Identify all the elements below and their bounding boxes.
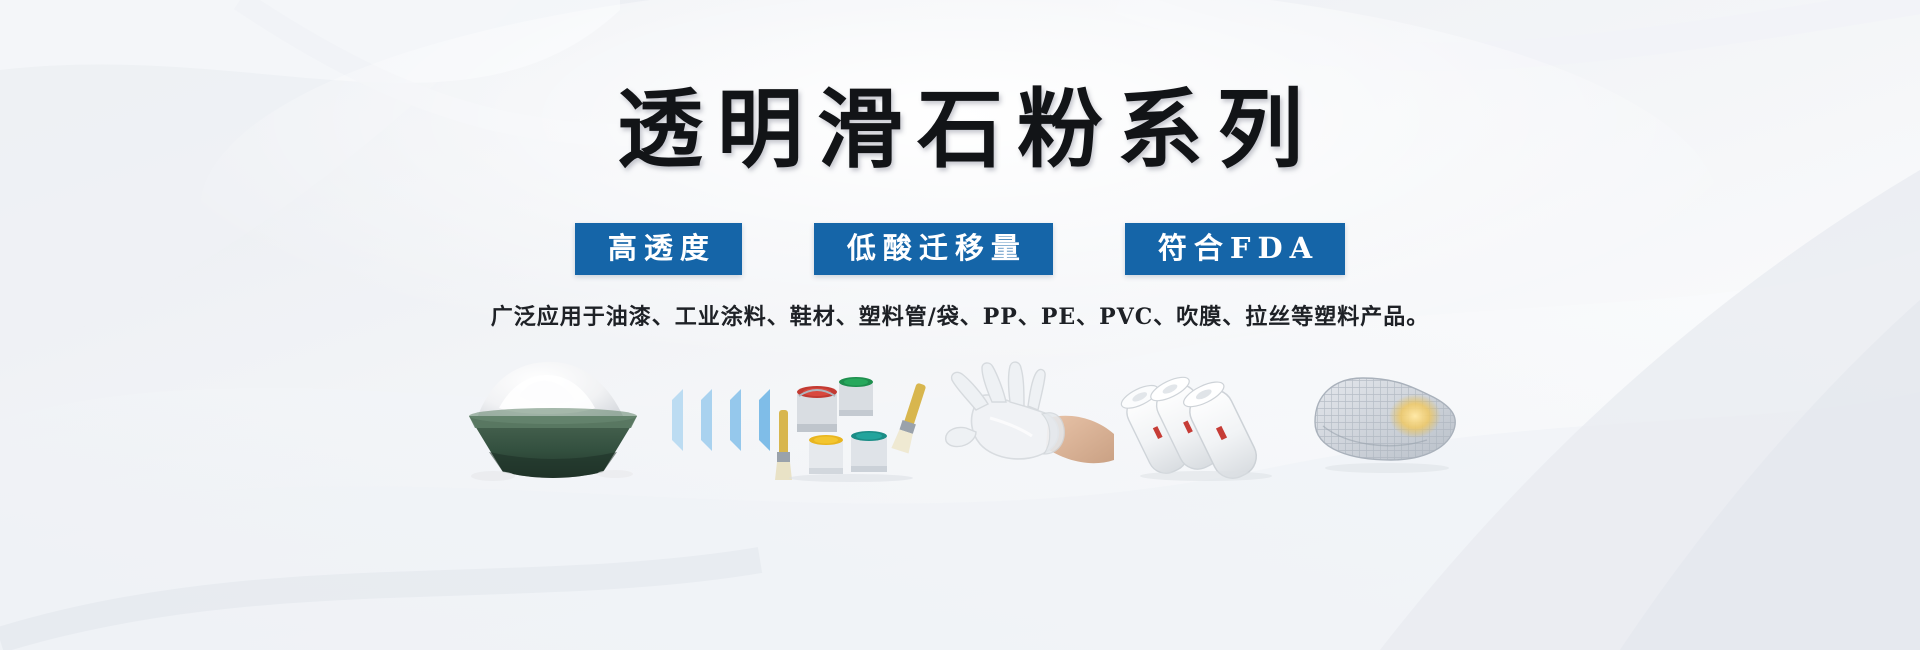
- product-image-strip: [0, 355, 1920, 485]
- application-description: 广泛应用于油漆、工业涂料、鞋材、塑料管/袋、PP、PE、PVC、吹膜、拉丝等塑料…: [0, 302, 1920, 332]
- talc-powder-bowl-image: [453, 355, 653, 485]
- process-arrow-icon: [653, 355, 773, 485]
- plastic-film-rolls-image: [1118, 355, 1293, 485]
- chevron-right-icon: [743, 389, 770, 451]
- paint-cans-image: [773, 355, 938, 485]
- shoe-sole-image: [1293, 355, 1468, 485]
- page-title: 透明滑石粉系列: [0, 82, 1920, 178]
- feature-badge-fda-compliant: 符合FDA: [1125, 223, 1345, 275]
- feature-badge-high-transparency: 高透度: [575, 223, 742, 275]
- chevron-right-icon: [685, 389, 712, 451]
- chevron-right-icon: [656, 389, 683, 451]
- chevron-right-icon: [714, 389, 741, 451]
- feature-badge-list: 高透度 低酸迁移量 符合FDA: [0, 223, 1920, 275]
- product-banner: 透明滑石粉系列 高透度 低酸迁移量 符合FDA 广泛应用于油漆、工业涂料、鞋材、…: [0, 0, 1920, 650]
- feature-badge-low-acid-migration: 低酸迁移量: [814, 223, 1053, 275]
- gloved-hand-image: [938, 355, 1118, 485]
